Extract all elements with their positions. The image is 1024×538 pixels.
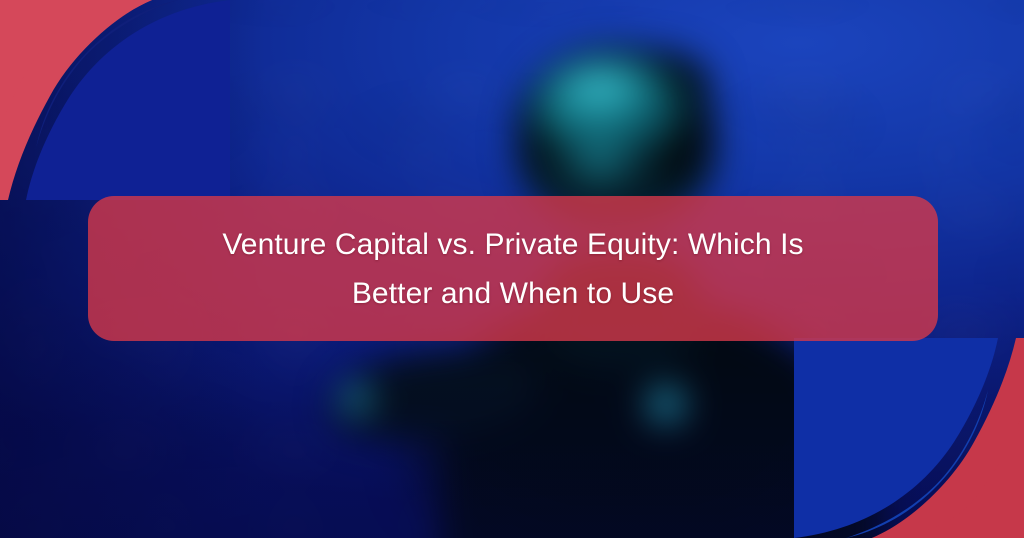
page-title: Venture Capital vs. Private Equity: Whic… [193,220,833,318]
header-image: Venture Capital vs. Private Equity: Whic… [0,0,1024,538]
title-banner: Venture Capital vs. Private Equity: Whic… [88,196,938,341]
